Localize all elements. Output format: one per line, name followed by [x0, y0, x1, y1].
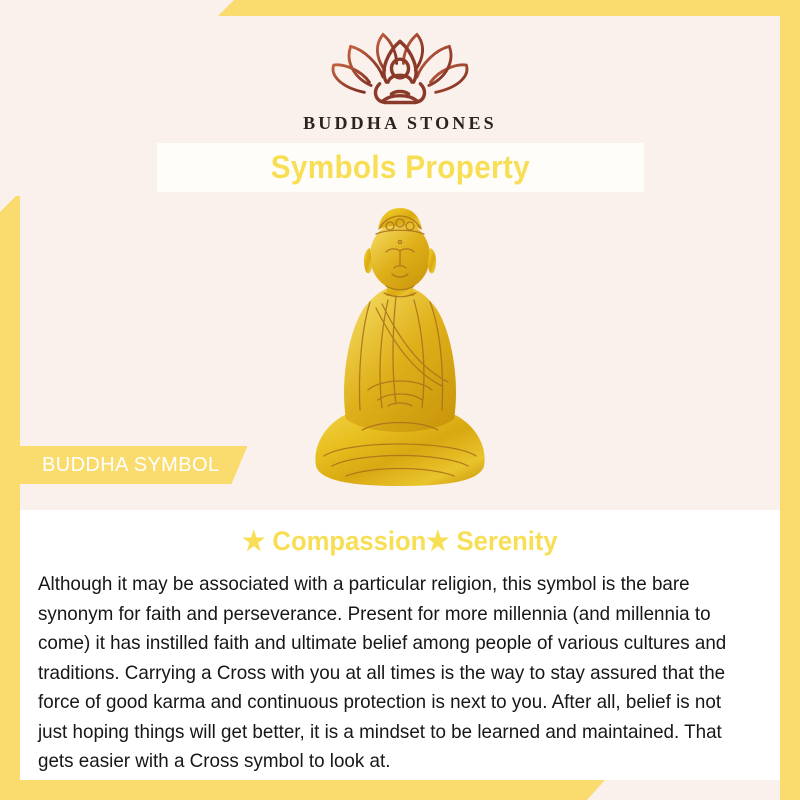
- article-subtitle: ★ Compassion★ Serenity: [56, 526, 744, 557]
- brand-logo-block: BUDDHA STONES: [20, 26, 780, 134]
- decor-band-right: [780, 0, 800, 800]
- page-title: Symbols Property: [271, 149, 530, 186]
- poster-page: BUDDHA STONES Symbols Property: [0, 0, 800, 800]
- brand-name: BUDDHA STONES: [303, 113, 497, 134]
- article-body: Although it may be associated with a par…: [38, 570, 737, 777]
- decor-band-bottom: [0, 780, 605, 800]
- ribbon-label: BUDDHA SYMBOL: [42, 454, 219, 477]
- seated-buddha-statue-icon: [302, 204, 498, 494]
- decor-band-left: [0, 196, 20, 800]
- poster-canvas: BUDDHA STONES Symbols Property: [20, 16, 780, 780]
- lotus-meditation-icon: [315, 26, 485, 108]
- article-panel: ★ Compassion★ Serenity Although it may b…: [20, 510, 780, 780]
- decor-band-top: [218, 0, 800, 16]
- title-banner: Symbols Property: [157, 143, 644, 192]
- buddha-symbol-ribbon: BUDDHA SYMBOL: [20, 446, 247, 484]
